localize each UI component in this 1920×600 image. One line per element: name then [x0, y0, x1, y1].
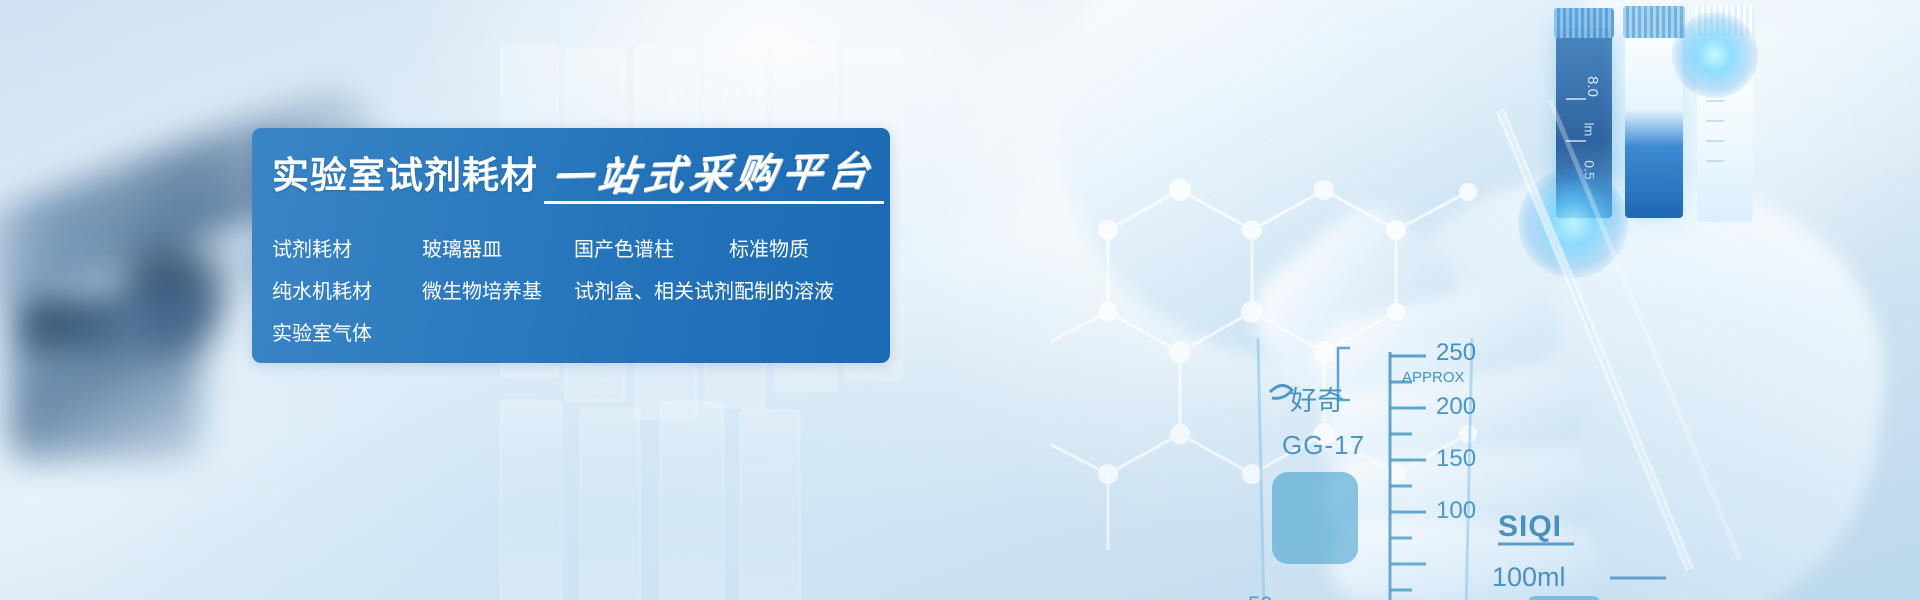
promo-panel: 实验室试剂耗材 一站式采购平台 试剂耗材 玻璃器皿 国产色谱柱 标准物质 纯水机… [252, 128, 890, 363]
category-item-domestic-chromatography-column[interactable]: 国产色谱柱 [574, 232, 729, 266]
category-item-reagent-kits-solutions[interactable]: 试剂盒、相关试剂配制的溶液 [574, 274, 834, 308]
cryovial-2-cap [1623, 6, 1685, 38]
beaker-mark-150: 150 [1436, 445, 1476, 472]
category-item-glassware[interactable]: 玻璃器皿 [422, 232, 574, 266]
beaker2-label-patch [1528, 596, 1600, 600]
headline-brush-wrapper: 一站式采购平台 [552, 155, 874, 204]
beaker-brand-cn: 好奇 [1290, 386, 1344, 417]
ghost-vial-label: 4C2HIF [660, 80, 775, 114]
cryovial-1-cap [1554, 8, 1614, 38]
category-item-microbial-culture-media[interactable]: 微生物培养基 [422, 274, 574, 308]
beaker-label-patch [1272, 472, 1358, 564]
beaker-model: GG-17 [1282, 430, 1365, 460]
beaker-mark-200: 200 [1436, 393, 1476, 420]
category-row: 纯水机耗材 微生物培养基 试剂盒、相关试剂配制的溶液 [272, 274, 872, 308]
headline-brush-text: 一站式采购平台 [549, 152, 877, 199]
beaker2-brand: SIQI [1498, 510, 1562, 543]
category-row: 实验室气体 [272, 316, 872, 350]
headline: 实验室试剂耗材 一站式采购平台 [272, 155, 874, 204]
cryovial-1-marking-a: 8.0 [1584, 76, 1601, 97]
category-item-water-purifier-consumables[interactable]: 纯水机耗材 [272, 274, 422, 308]
cyan-glow-highlight [1672, 12, 1758, 98]
beaker2-volume: 100ml [1492, 562, 1566, 592]
category-item-reference-material[interactable]: 标准物质 [729, 232, 869, 266]
beaker-mark-250: 250 [1436, 339, 1476, 366]
headline-underline-rule [544, 201, 884, 204]
beaker-mark-50-left: 50 [1248, 592, 1272, 600]
category-list: 试剂耗材 玻璃器皿 国产色谱柱 标准物质 纯水机耗材 微生物培养基 试剂盒、相关… [272, 232, 872, 358]
beaker-mark-approx: APPROX [1402, 369, 1465, 386]
ghost-vial [740, 410, 800, 600]
lab-supplies-hero-banner: 4C2HIF 8.0 lm 0.5 [0, 0, 1920, 600]
ghost-vial [500, 400, 562, 600]
ghost-vial [660, 402, 724, 600]
graduated-beaker-2: SIQI 100ml [1470, 500, 1800, 600]
headline-main-text: 实验室试剂耗材 [272, 157, 538, 194]
category-item-lab-gases[interactable]: 实验室气体 [272, 316, 422, 350]
category-item-reagent-consumables[interactable]: 试剂耗材 [272, 232, 422, 266]
ghost-vial [580, 408, 640, 600]
microscope-base-blur [24, 300, 124, 352]
category-row: 试剂耗材 玻璃器皿 国产色谱柱 标准物质 [272, 232, 872, 266]
